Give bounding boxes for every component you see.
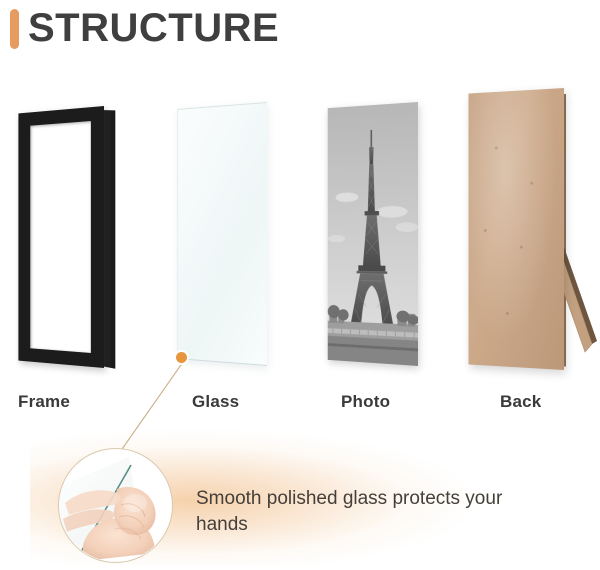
- callout-text: Smooth polished glass protects your hand…: [196, 486, 526, 538]
- glass-callout-marker-icon: [176, 352, 187, 363]
- hand-holding-glass-icon: [58, 448, 173, 563]
- structure-infographic: STRUCTURE: [0, 0, 600, 570]
